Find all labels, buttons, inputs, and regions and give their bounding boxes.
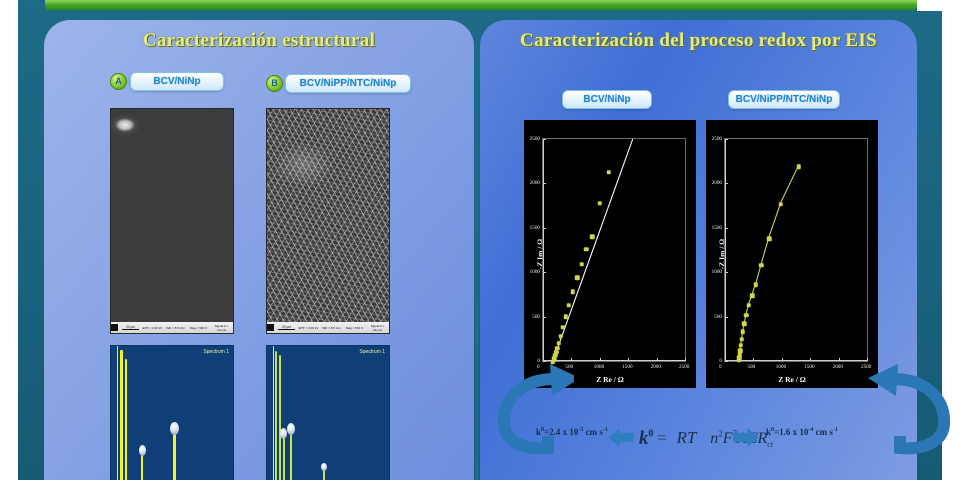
eis-ytick: 2000 (712, 180, 722, 186)
eis-data-point (554, 350, 559, 355)
eis-data-point (567, 303, 572, 308)
k-value-left: k0=2.4 x 10-5 cm s-1 (536, 427, 608, 437)
equation-fraction: RT n2F2ACRct (670, 428, 777, 449)
sample-badge-a: A (110, 73, 127, 90)
sem-mag-a: Mag = 500 X (188, 326, 210, 330)
edx-peaks-a (111, 346, 233, 480)
eis-chip-left[interactable]: BCV/NiNp (562, 90, 652, 109)
panel-divider (475, 20, 479, 480)
eis-xtick: 1000 (594, 364, 604, 370)
eis-ytick-mark (725, 361, 728, 362)
sem-logo-icon (267, 324, 274, 331)
eis-data-point (607, 170, 612, 175)
top-bar-cap (917, 0, 942, 11)
edx-peaks-b (267, 346, 389, 480)
eis-right-plot-area: 0500100015002000250005001000150020002500 (724, 138, 868, 362)
eis-fit-line (725, 139, 867, 361)
sem-mag-b: Mag = 500 X (344, 326, 366, 330)
eis-data-point (779, 202, 784, 207)
sem-wd-a: WD = 8.5 mm (165, 326, 187, 330)
edx-spectrum-b[interactable]: Spectrum 1 (266, 345, 390, 480)
eis-ytick: 2500 (530, 136, 540, 142)
sample-badge-b: B (266, 75, 283, 92)
sem-logo-icon (111, 324, 118, 331)
left-panel-title: Caracterización estructural (44, 30, 474, 52)
eis-data-point (741, 330, 746, 335)
eis-data-point (579, 262, 584, 267)
eis-data-point (759, 263, 764, 268)
curved-arrow-right (868, 362, 956, 462)
sem-scale-bar-a: 20 µm (122, 325, 139, 330)
eis-data-point (570, 290, 575, 295)
eis-xtick: 2000 (833, 364, 843, 370)
eis-data-point (740, 337, 745, 342)
eis-data-point (558, 334, 563, 339)
eis-data-point (584, 247, 589, 252)
eis-ytick: 2000 (530, 180, 540, 186)
eis-ytick: 1000 (530, 269, 540, 275)
eis-data-point (750, 293, 755, 298)
sem-image-b[interactable]: 20 µm EHT = 3.00 kV WD = 8.5 mm Mag = 50… (266, 108, 390, 334)
equation-lhs: k0 (639, 428, 654, 450)
eis-ytick: 500 (714, 314, 722, 320)
eis-xtick: 0 (719, 364, 722, 370)
eis-ytick: 2500 (712, 136, 722, 142)
eis-data-point (797, 165, 802, 170)
eis-xtick: 1500 (622, 364, 632, 370)
eis-data-point (747, 303, 752, 308)
left-panel: Caracterización estructural A BCV/NiNp B… (44, 20, 474, 480)
curved-arrow-left (488, 362, 574, 462)
eis-chart-right[interactable]: -Z Im / Ω Z Re / Ω 050010001500200025000… (706, 120, 878, 388)
sem-signal-a: Signal A = InLens (211, 324, 233, 332)
eis-chart-left[interactable]: -Z Im / Ω Z Re / Ω 050010001500200025000… (524, 120, 696, 388)
eis-xtick: 1000 (776, 364, 786, 370)
eis-data-point (754, 283, 759, 288)
eis-data-point (737, 352, 742, 357)
eis-data-point (555, 346, 560, 351)
eis-data-point (557, 341, 562, 346)
sem-info-bar-a: 20 µm EHT = 3.00 kV WD = 8.5 mm Mag = 50… (111, 322, 233, 333)
eis-ytick: 1500 (712, 225, 722, 231)
eis-data-point (739, 343, 744, 348)
eis-ytick: 1500 (530, 225, 540, 231)
sem-eht-a: EHT = 3.00 kV (142, 326, 164, 330)
eis-data-point (767, 236, 772, 241)
eis-xtick-mark (867, 358, 868, 361)
right-panel-title: Caracterización del proceso redox por EI… (480, 30, 917, 52)
sem-info-bar-b: 20 µm EHT = 3.00 kV WD = 8.5 mm Mag = 50… (267, 322, 389, 333)
k-value-right: k0=1.6 x 10-4 cm s-1 (766, 427, 838, 437)
eis-data-point (598, 201, 603, 206)
eis-left-plot-area: 0500100015002000250005001000150020002500 (542, 138, 686, 362)
eis-data-point (744, 313, 749, 318)
eis-xtick: 1500 (804, 364, 814, 370)
eis-left-series: 0500100015002000250005001000150020002500 (543, 139, 685, 361)
slide-canvas: Caracterización estructural A BCV/NiNp B… (0, 0, 960, 480)
equation-equals: = (657, 430, 666, 448)
eis-data-point (575, 276, 580, 281)
eis-xtick: 2000 (651, 364, 661, 370)
edx-spectrum-a[interactable]: Spectrum 1 (110, 345, 234, 480)
eis-data-point (742, 322, 747, 327)
sample-chip-a[interactable]: BCV/NiNp (130, 72, 224, 91)
equation-numerator: RT (670, 428, 702, 448)
eis-chip-right[interactable]: BCV/NiPP/NTC/NiNp (728, 90, 840, 109)
rate-constant-equation: k0 = RT n2F2ACRct (628, 408, 788, 470)
sem-eht-b: EHT = 3.00 kV (298, 326, 320, 330)
eis-data-point (590, 235, 595, 240)
eis-ytick: 500 (532, 314, 540, 320)
eis-xtick-mark (685, 358, 686, 361)
top-green-bar (45, 0, 917, 10)
sem-wd-b: WD = 8.5 mm (321, 326, 343, 330)
eis-right-xlabel: Z Re / Ω (706, 375, 878, 384)
sem-scale-bar-b: 20 µm (278, 325, 295, 330)
eis-xtick: 500 (747, 364, 755, 370)
eis-data-point (563, 315, 568, 320)
eis-data-point (738, 348, 743, 353)
eis-xtick: 2500 (679, 364, 689, 370)
eis-ytick: 0 (719, 358, 722, 364)
eis-right-series: 0500100015002000250005001000150020002500 (725, 139, 867, 361)
sample-chip-b[interactable]: BCV/NiPP/NTC/NiNp (285, 74, 411, 93)
eis-data-point (561, 325, 566, 330)
sem-signal-b: Signal A = InLens (367, 324, 389, 332)
eis-ytick: 1000 (712, 269, 722, 275)
sem-image-a[interactable]: 20 µm EHT = 3.00 kV WD = 8.5 mm Mag = 50… (110, 108, 234, 334)
